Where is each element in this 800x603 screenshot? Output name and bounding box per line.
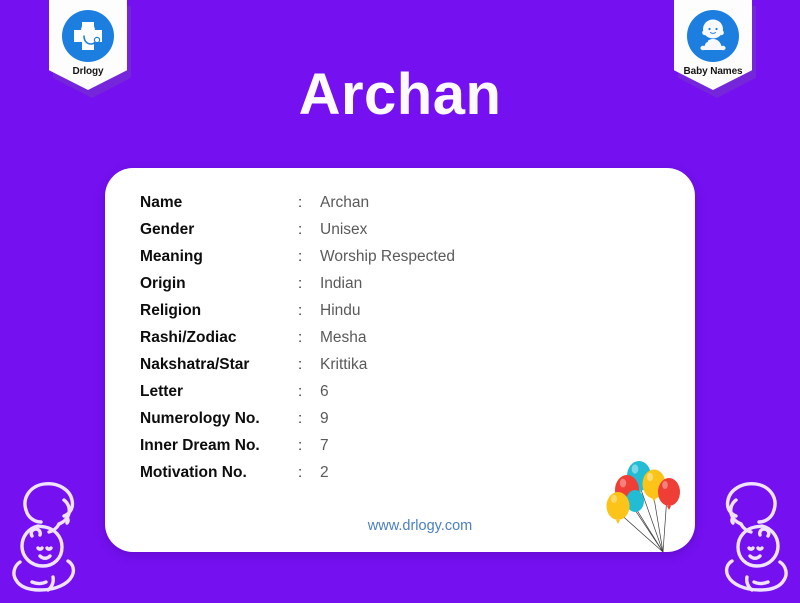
row-label: Religion (140, 302, 298, 320)
table-row: Origin : Indian (140, 275, 455, 302)
name-details-list: Name : Archan Gender : Unisex Meaning : … (140, 194, 455, 491)
row-separator: : (298, 383, 320, 400)
mother-baby-outline-icon (2, 470, 100, 598)
row-label: Letter (140, 383, 298, 401)
row-separator: : (298, 356, 320, 373)
row-value: Worship Respected (320, 248, 455, 266)
row-label: Inner Dream No. (140, 437, 298, 455)
row-value: Indian (320, 275, 362, 293)
row-separator: : (298, 410, 320, 427)
table-row: Name : Archan (140, 194, 455, 221)
table-row: Letter : 6 (140, 383, 455, 410)
doctor-cross-icon (62, 10, 114, 62)
row-separator: : (298, 194, 320, 211)
row-label: Numerology No. (140, 410, 298, 428)
row-separator: : (298, 302, 320, 319)
drlogy-badge[interactable]: Drlogy (49, 0, 127, 90)
table-row: Nakshatra/Star : Krittika (140, 356, 455, 383)
row-separator: : (298, 329, 320, 346)
row-label: Nakshatra/Star (140, 356, 298, 374)
baby-names-badge[interactable]: Baby Names (674, 0, 752, 90)
row-label: Rashi/Zodiac (140, 329, 298, 347)
table-row: Gender : Unisex (140, 221, 455, 248)
baby-icon (687, 10, 739, 62)
table-row: Inner Dream No. : 7 (140, 437, 455, 464)
row-value: 7 (320, 437, 329, 455)
mother-baby-outline-icon (700, 470, 798, 598)
row-value: Mesha (320, 329, 367, 347)
drlogy-badge-label: Drlogy (49, 66, 127, 77)
row-separator: : (298, 464, 320, 481)
table-row: Religion : Hindu (140, 302, 455, 329)
row-label: Name (140, 194, 298, 212)
row-separator: : (298, 248, 320, 265)
table-row: Numerology No. : 9 (140, 410, 455, 437)
row-label: Gender (140, 221, 298, 239)
row-value: Archan (320, 194, 369, 212)
row-value: Krittika (320, 356, 367, 374)
row-value: 9 (320, 410, 329, 428)
row-separator: : (298, 221, 320, 238)
row-separator: : (298, 275, 320, 292)
row-value: 6 (320, 383, 329, 401)
row-value: Unisex (320, 221, 367, 239)
row-value: Hindu (320, 302, 361, 320)
row-value: 2 (320, 464, 329, 482)
baby-names-badge-label: Baby Names (674, 66, 752, 77)
row-label: Meaning (140, 248, 298, 266)
row-label: Origin (140, 275, 298, 293)
row-separator: : (298, 437, 320, 454)
balloons-icon (605, 452, 691, 552)
row-label: Motivation No. (140, 464, 298, 482)
table-row: Rashi/Zodiac : Mesha (140, 329, 455, 356)
table-row: Motivation No. : 2 (140, 464, 455, 491)
name-details-card: Name : Archan Gender : Unisex Meaning : … (105, 168, 695, 552)
table-row: Meaning : Worship Respected (140, 248, 455, 275)
